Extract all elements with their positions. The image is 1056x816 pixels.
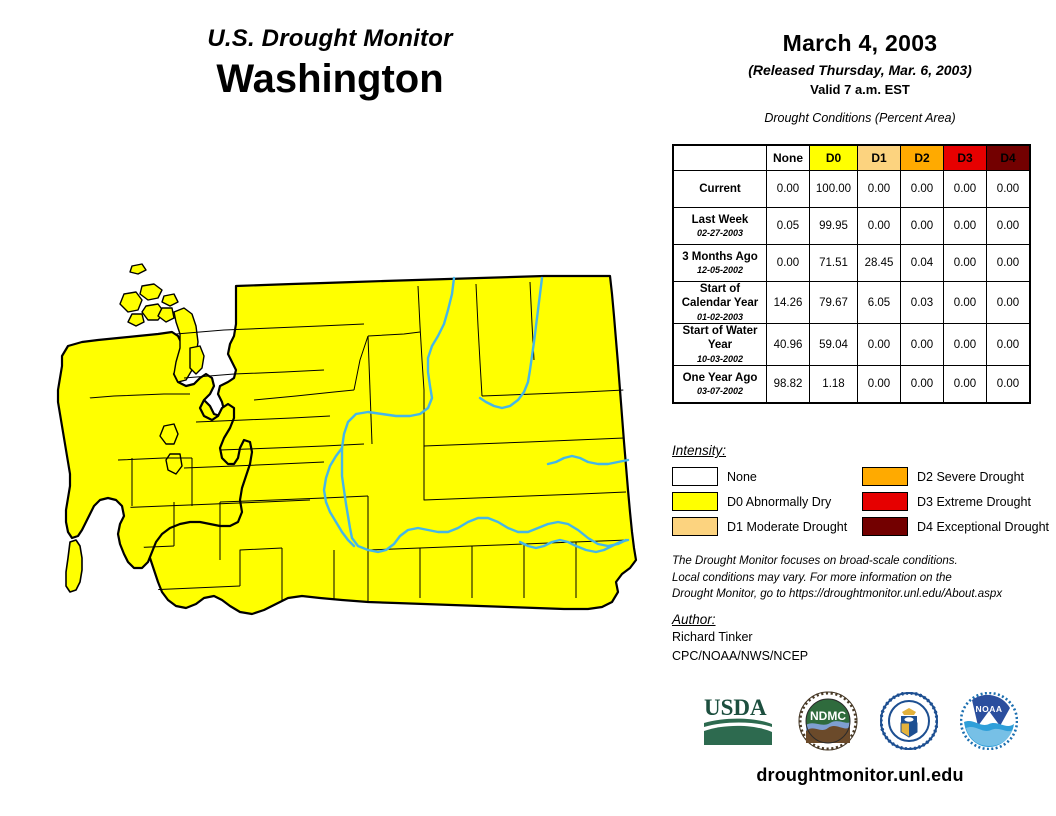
legend-swatch-d0 xyxy=(672,492,718,511)
date-block: March 4, 2003 (Released Thursday, Mar. 6… xyxy=(664,0,1056,97)
row-label-date: 02-27-2003 xyxy=(674,228,766,239)
legend-item-d4: D4 Exceptional Drought xyxy=(862,514,1052,539)
intensity-legend-title: Intensity: xyxy=(672,443,1052,458)
island-fidalgo xyxy=(158,308,174,322)
cell-d4: 0.00 xyxy=(987,245,1031,282)
cell-d2: 0.04 xyxy=(901,245,944,282)
island-guemes xyxy=(162,294,178,306)
table-corner-cell xyxy=(673,145,767,171)
legend-column-left: NoneD0 Abnormally DryD1 Moderate Drought xyxy=(672,464,862,539)
cell-d3: 0.00 xyxy=(944,282,987,324)
cell-d4: 0.00 xyxy=(987,324,1031,366)
legend-label-d2: D2 Severe Drought xyxy=(917,470,1024,484)
cell-d1: 0.00 xyxy=(858,366,901,404)
row-label: One Year Ago03-07-2002 xyxy=(673,366,767,404)
map-svg xyxy=(24,250,664,670)
legend-swatch-d2 xyxy=(862,467,908,486)
cell-d3: 0.00 xyxy=(944,245,987,282)
column-header-d1: D1 xyxy=(858,145,901,171)
cell-d0: 71.51 xyxy=(810,245,858,282)
cell-d0: 99.95 xyxy=(810,208,858,245)
island-sanjuan xyxy=(120,292,142,312)
drought-monitor-page: U.S. Drought Monitor Washington xyxy=(0,0,1056,816)
logo-row: USDA NDMC xyxy=(664,688,1056,758)
column-header-none: None xyxy=(767,145,810,171)
cell-d2: 0.00 xyxy=(901,324,944,366)
island-small-n xyxy=(130,264,146,274)
table-row: 3 Months Ago12-05-20020.0071.5128.450.04… xyxy=(673,245,1030,282)
legend-label-d4: D4 Exceptional Drought xyxy=(917,520,1049,534)
cell-d3: 0.00 xyxy=(944,208,987,245)
cell-d1: 28.45 xyxy=(858,245,901,282)
valid-time: Valid 7 a.m. EST xyxy=(664,82,1056,97)
author-block: Author: Richard Tinker CPC/NOAA/NWS/NCEP xyxy=(672,612,1052,665)
row-label-date: 01-02-2003 xyxy=(674,312,766,323)
cell-d2: 0.03 xyxy=(901,282,944,324)
cell-d2: 0.00 xyxy=(901,171,944,208)
table-caption: Drought Conditions (Percent Area) xyxy=(664,111,1056,125)
row-label: Current xyxy=(673,171,767,208)
row-label: Start of Water Year10-03-2002 xyxy=(673,324,767,366)
cell-d0: 79.67 xyxy=(810,282,858,324)
cell-d4: 0.00 xyxy=(987,171,1031,208)
program-title: U.S. Drought Monitor xyxy=(0,26,660,52)
cell-d1: 0.00 xyxy=(858,208,901,245)
commerce-seal xyxy=(880,692,938,755)
table-row: Start of Calendar Year01-02-200314.2679.… xyxy=(673,282,1030,324)
legend-label-d1: D1 Moderate Drought xyxy=(727,520,847,534)
legend-item-none: None xyxy=(672,464,862,489)
cell-none: 14.26 xyxy=(767,282,810,324)
svg-text:USDA: USDA xyxy=(704,695,767,720)
row-label: Start of Calendar Year01-02-2003 xyxy=(673,282,767,324)
row-label-date: 03-07-2002 xyxy=(674,386,766,397)
cell-d3: 0.00 xyxy=(944,324,987,366)
cell-d2: 0.00 xyxy=(901,208,944,245)
cell-d3: 0.00 xyxy=(944,171,987,208)
cell-none: 0.00 xyxy=(767,171,810,208)
cell-d0: 1.18 xyxy=(810,366,858,404)
table-row: Start of Water Year10-03-200240.9659.040… xyxy=(673,324,1030,366)
right-column: March 4, 2003 (Released Thursday, Mar. 6… xyxy=(664,0,1056,816)
legend-swatch-d3 xyxy=(862,492,908,511)
usda-logo: USDA xyxy=(702,693,776,754)
column-header-d4: D4 xyxy=(987,145,1031,171)
disclaimer-line-3: Drought Monitor, go to https://droughtmo… xyxy=(672,586,1052,603)
island-camano xyxy=(190,346,204,374)
report-date: March 4, 2003 xyxy=(664,30,1056,57)
state-fill-longbeach xyxy=(66,540,82,592)
cell-d1: 0.00 xyxy=(858,171,901,208)
legend-swatch-d1 xyxy=(672,517,718,536)
column-header-d2: D2 xyxy=(901,145,944,171)
cell-d1: 0.00 xyxy=(858,324,901,366)
legend-item-d1: D1 Moderate Drought xyxy=(672,514,862,539)
table-header-row: None D0 D1 D2 D3 D4 xyxy=(673,145,1030,171)
table-row: One Year Ago03-07-200298.821.180.000.000… xyxy=(673,366,1030,404)
cell-d3: 0.00 xyxy=(944,366,987,404)
cell-d0: 59.04 xyxy=(810,324,858,366)
row-label-date: 10-03-2002 xyxy=(674,354,766,365)
island-shaw xyxy=(128,314,144,326)
table-row: Last Week02-27-20030.0599.950.000.000.00… xyxy=(673,208,1030,245)
legend-item-d3: D3 Extreme Drought xyxy=(862,489,1052,514)
author-affiliation: CPC/NOAA/NWS/NCEP xyxy=(672,647,1052,665)
legend-label-d3: D3 Extreme Drought xyxy=(917,495,1031,509)
release-date: (Released Thursday, Mar. 6, 2003) xyxy=(664,62,1056,78)
row-label-date: 12-05-2002 xyxy=(674,265,766,276)
cell-none: 0.00 xyxy=(767,245,810,282)
svg-text:NDMC: NDMC xyxy=(810,709,846,723)
column-header-d3: D3 xyxy=(944,145,987,171)
washington-drought-map xyxy=(24,250,664,670)
noaa-logo: NOAA xyxy=(960,692,1018,755)
drought-conditions-table: None D0 D1 D2 D3 D4 Current0.00100.000.0… xyxy=(672,144,1031,404)
state-title: Washington xyxy=(0,56,660,102)
ndmc-logo: NDMC xyxy=(798,691,858,756)
disclaimer-line-1: The Drought Monitor focuses on broad-sca… xyxy=(672,553,1052,570)
legend-swatch-d4 xyxy=(862,517,908,536)
legend-column-right: D2 Severe DroughtD3 Extreme DroughtD4 Ex… xyxy=(862,464,1052,539)
cell-d2: 0.00 xyxy=(901,366,944,404)
legend-label-none: None xyxy=(727,470,757,484)
cell-none: 40.96 xyxy=(767,324,810,366)
legend-item-d0: D0 Abnormally Dry xyxy=(672,489,862,514)
cell-d1: 6.05 xyxy=(858,282,901,324)
legend-item-d2: D2 Severe Drought xyxy=(862,464,1052,489)
row-label: 3 Months Ago12-05-2002 xyxy=(673,245,767,282)
cell-none: 0.05 xyxy=(767,208,810,245)
intensity-legend: Intensity: NoneD0 Abnormally DryD1 Moder… xyxy=(672,443,1052,539)
island-orcas xyxy=(140,284,162,300)
author-name: Richard Tinker xyxy=(672,628,1052,646)
column-header-d0: D0 xyxy=(810,145,858,171)
cell-d4: 0.00 xyxy=(987,282,1031,324)
cell-d0: 100.00 xyxy=(810,171,858,208)
cell-none: 98.82 xyxy=(767,366,810,404)
legend-grid: NoneD0 Abnormally DryD1 Moderate Drought… xyxy=(672,464,1052,539)
table-body: Current0.00100.000.000.000.000.00Last We… xyxy=(673,171,1030,404)
title-block: U.S. Drought Monitor Washington xyxy=(0,26,660,102)
author-title: Author: xyxy=(672,612,1052,627)
legend-swatch-none xyxy=(672,467,718,486)
site-url: droughtmonitor.unl.edu xyxy=(664,765,1056,786)
disclaimer-text: The Drought Monitor focuses on broad-sca… xyxy=(672,553,1052,603)
legend-label-d0: D0 Abnormally Dry xyxy=(727,495,831,509)
disclaimer-line-2: Local conditions may vary. For more info… xyxy=(672,570,1052,587)
row-label: Last Week02-27-2003 xyxy=(673,208,767,245)
table-row: Current0.00100.000.000.000.000.00 xyxy=(673,171,1030,208)
cell-d4: 0.00 xyxy=(987,208,1031,245)
svg-text:NOAA: NOAA xyxy=(975,704,1002,714)
cell-d4: 0.00 xyxy=(987,366,1031,404)
